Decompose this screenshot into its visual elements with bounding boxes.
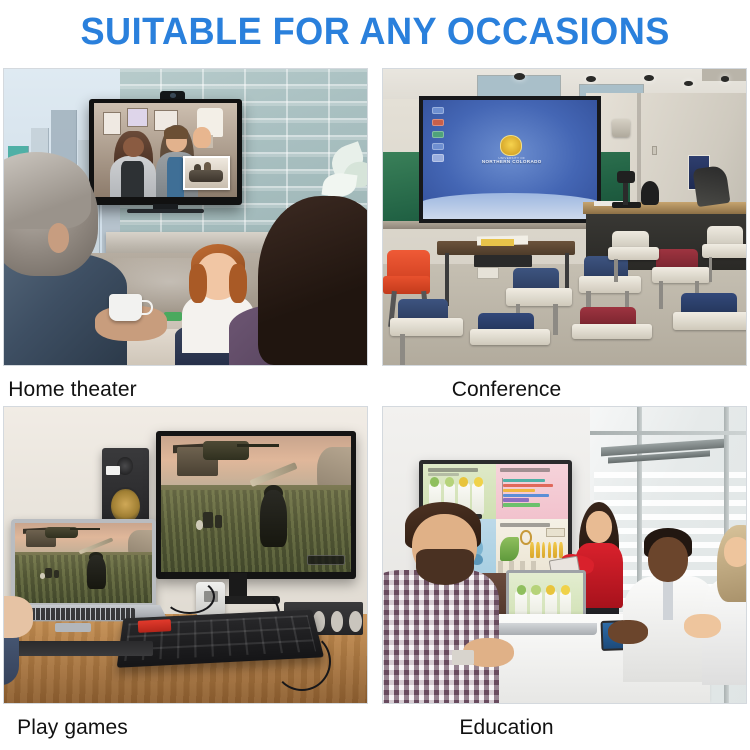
monitor-game-screen	[161, 436, 351, 572]
photo-home-theater	[3, 68, 368, 366]
attendee-checked-shirt	[382, 570, 499, 703]
quadrant-bar-chart	[496, 464, 568, 519]
photo-play-games	[3, 406, 368, 704]
student-desk	[673, 312, 747, 359]
photo-conference: UNIVERSITY OF NORTHERN COLORADO	[382, 68, 747, 366]
television	[89, 99, 241, 206]
product-feature-collage: SUITABLE FOR ANY OCCASIONS	[0, 0, 750, 750]
panel-home-theater: Home theater	[0, 64, 375, 402]
caption-conference: Conference	[375, 379, 750, 400]
tv-screen-video-call	[94, 103, 236, 198]
student-desk	[470, 329, 550, 366]
caption-home-theater: Home theater	[0, 379, 375, 400]
photo-education	[382, 406, 747, 704]
caption-play-games: Play games	[0, 717, 375, 738]
panel-conference: UNIVERSITY OF NORTHERN COLORADO	[375, 64, 750, 402]
projected-desktop: UNIVERSITY OF NORTHERN COLORADO	[423, 100, 597, 219]
ceiling-speaker	[612, 119, 630, 137]
student-desk	[702, 244, 747, 282]
document-camera	[617, 171, 635, 183]
laptop	[11, 519, 156, 608]
caption-education: Education	[375, 717, 750, 738]
picture-in-picture-inset	[183, 156, 230, 190]
page-title: SUITABLE FOR ANY OCCASIONS	[80, 11, 669, 54]
student-desk	[608, 247, 659, 283]
panel-education: Education	[375, 402, 750, 740]
projected-text-line2: NORTHERN COLORADO	[465, 159, 559, 166]
page-header: SUITABLE FOR ANY OCCASIONS	[0, 0, 750, 64]
student-desk	[572, 324, 652, 365]
panel-play-games: Play games	[0, 402, 375, 740]
laptop-game-screen	[15, 523, 152, 603]
projection-screen: UNIVERSITY OF NORTHERN COLORADO	[419, 96, 601, 223]
desktop-monitor	[156, 431, 356, 579]
laptop-trackpad	[55, 623, 91, 632]
occasions-grid: Home theater	[0, 64, 750, 750]
wristwatch	[452, 650, 474, 665]
university-crest-icon	[500, 135, 523, 155]
webcam-lens-icon	[170, 93, 177, 98]
keyboard-red-keys	[138, 619, 171, 633]
student-desk	[390, 318, 463, 365]
